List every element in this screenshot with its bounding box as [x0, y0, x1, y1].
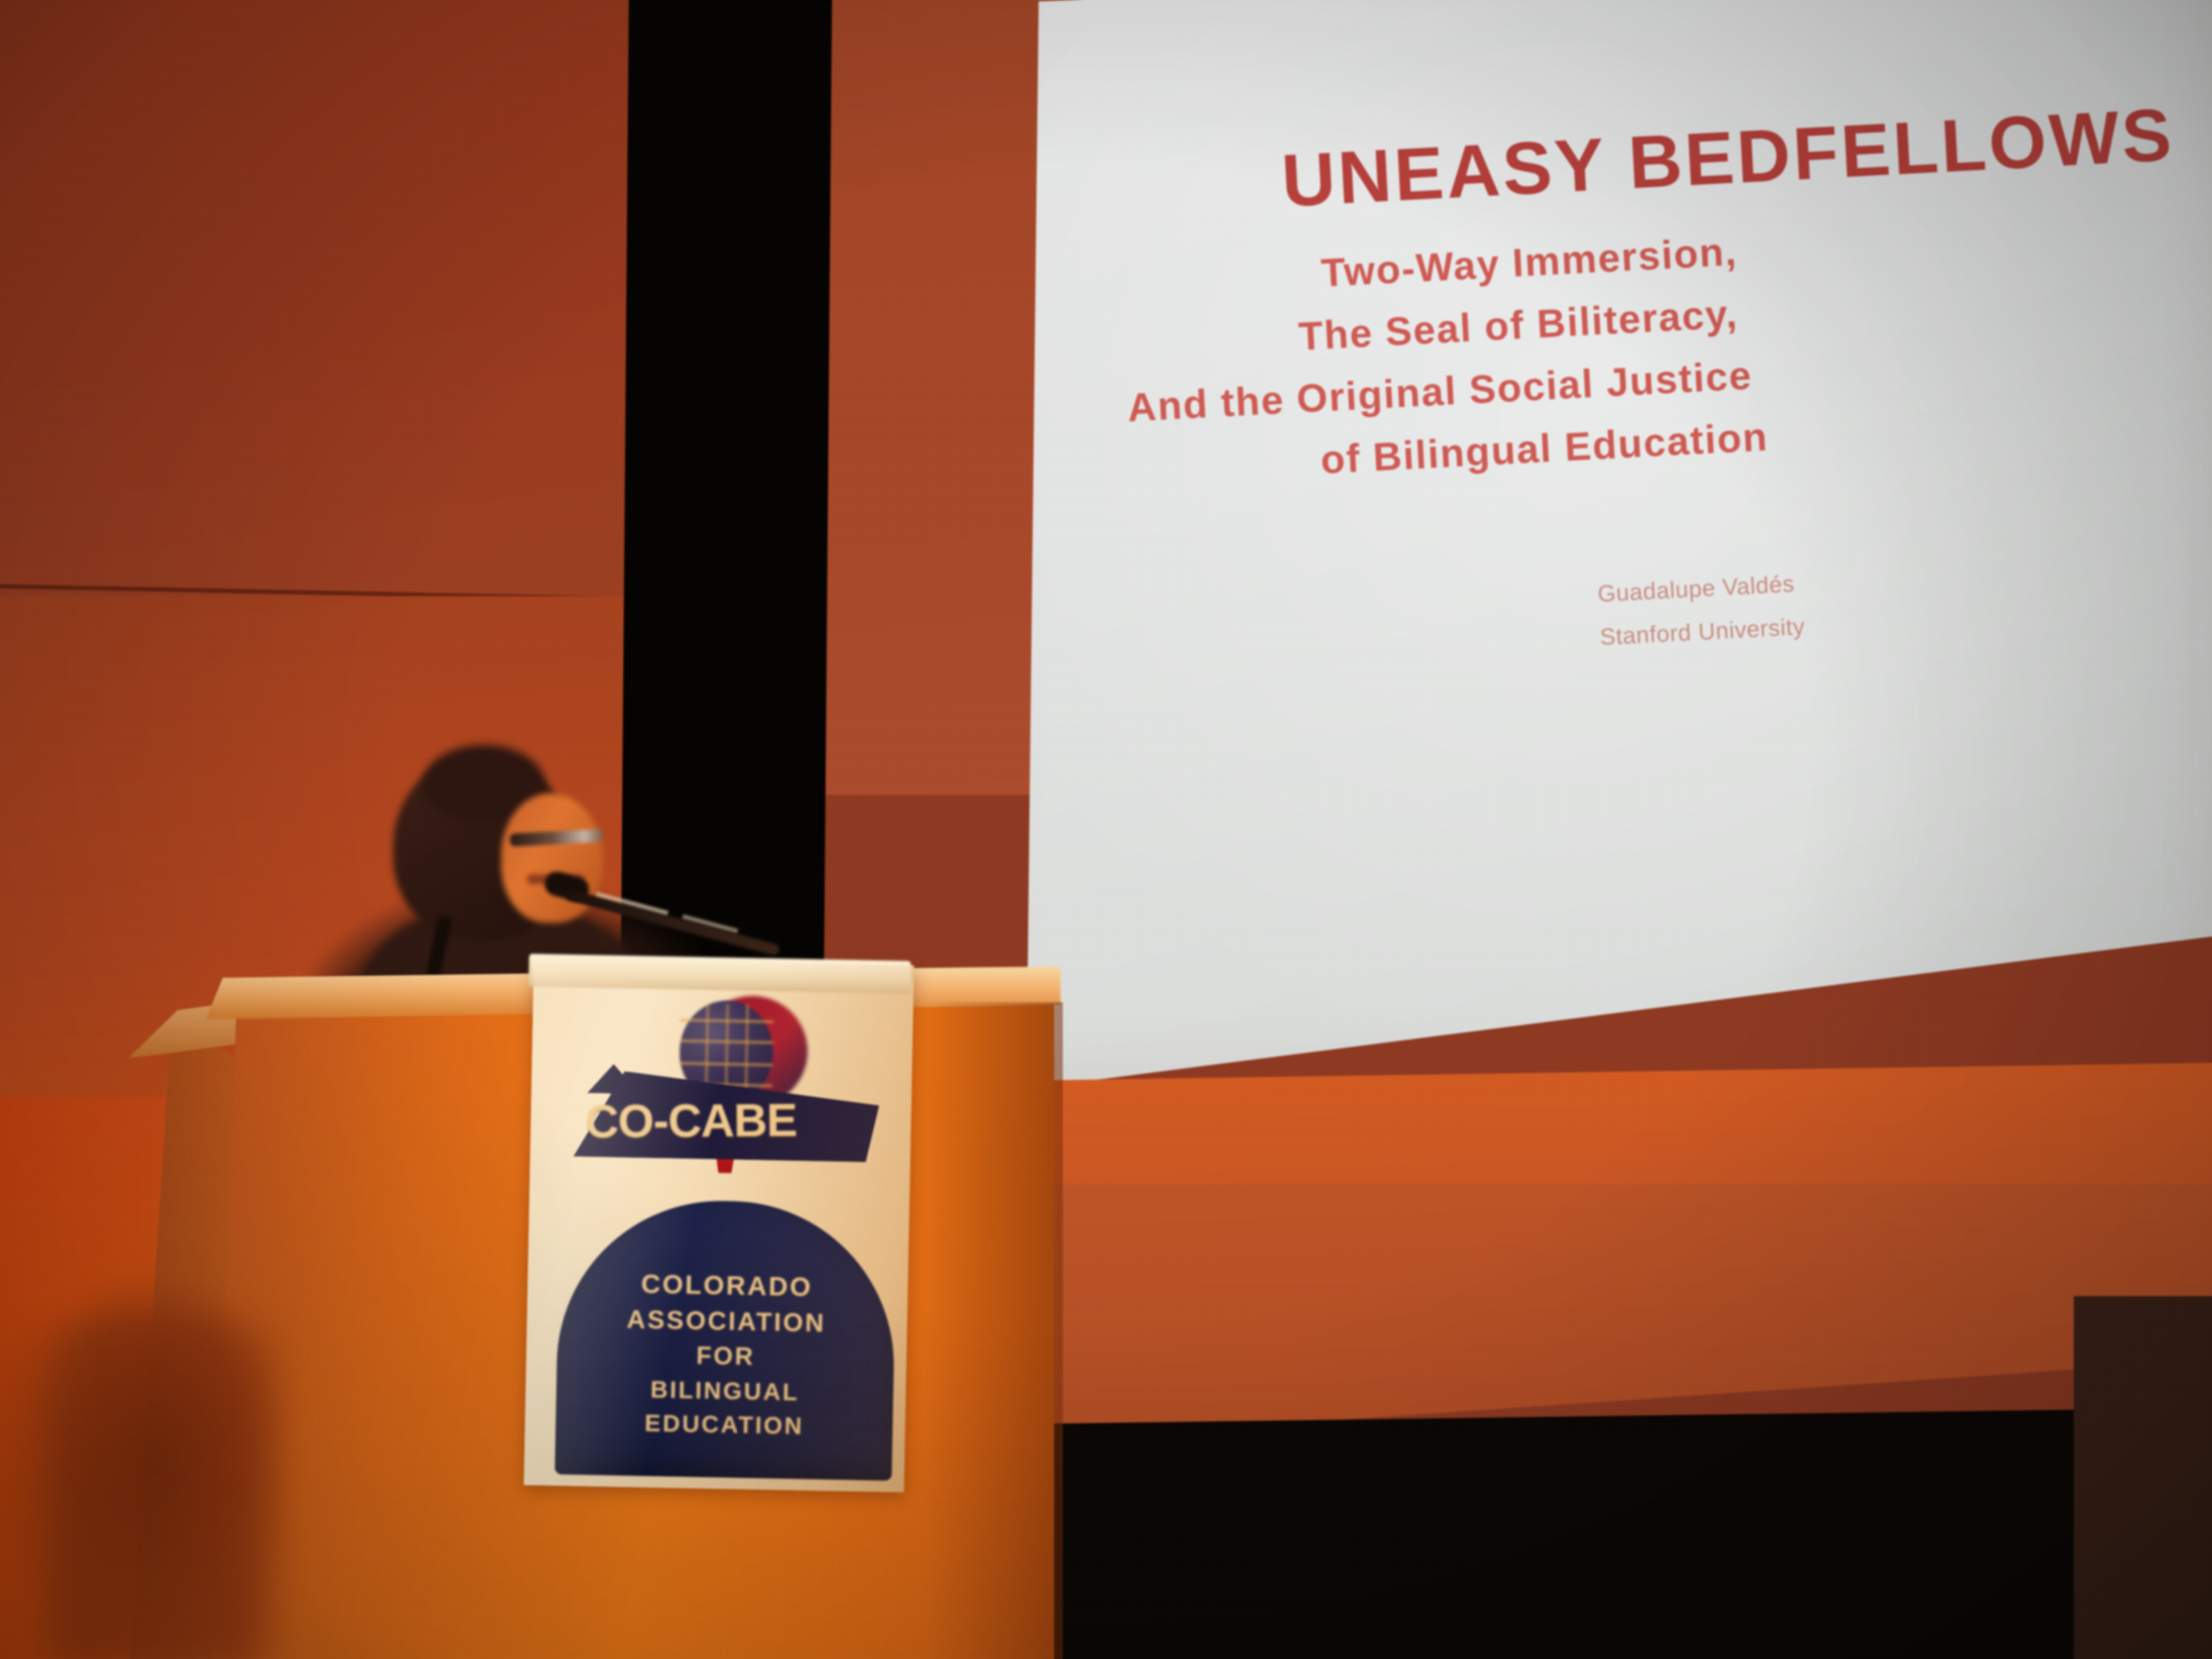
org-line-1: COLORADO [641, 1268, 813, 1303]
slide-title: UNEASY BEDFELLOWS [1280, 83, 2212, 225]
wall-below-screen-lower [1002, 1184, 2212, 1443]
logo-wordmark: CO-CABE [585, 1093, 870, 1148]
black-wall-panel [620, 0, 832, 1020]
banner-organization-text: COLORADO ASSOCIATION FOR BILINGUAL EDUCA… [555, 1198, 897, 1480]
wall-upper-panel [0, 0, 631, 613]
slide-content: UNEASY BEDFELLOWS Two-Way Immersion, The… [995, 0, 2212, 1120]
org-line-2: ASSOCIATION [626, 1305, 826, 1338]
podium-right-shading [925, 1002, 1063, 1659]
org-line-4: BILINGUAL [650, 1376, 799, 1406]
slide-author-affiliation: Stanford University [1599, 613, 1806, 651]
photo-scene: UNEASY BEDFELLOWS Two-Way Immersion, The… [0, 0, 2212, 1659]
dark-stage-area [1024, 1408, 2164, 1659]
org-line-5: EDUCATION [645, 1409, 804, 1440]
cocabe-logo: CO-CABE [550, 990, 899, 1170]
slide-author-name: Guadalupe Valdés [1597, 571, 1795, 608]
org-line-3: FOR [696, 1342, 754, 1371]
corner-shadow [0, 1322, 285, 1659]
dark-stage-right-edge [2074, 1296, 2212, 1659]
